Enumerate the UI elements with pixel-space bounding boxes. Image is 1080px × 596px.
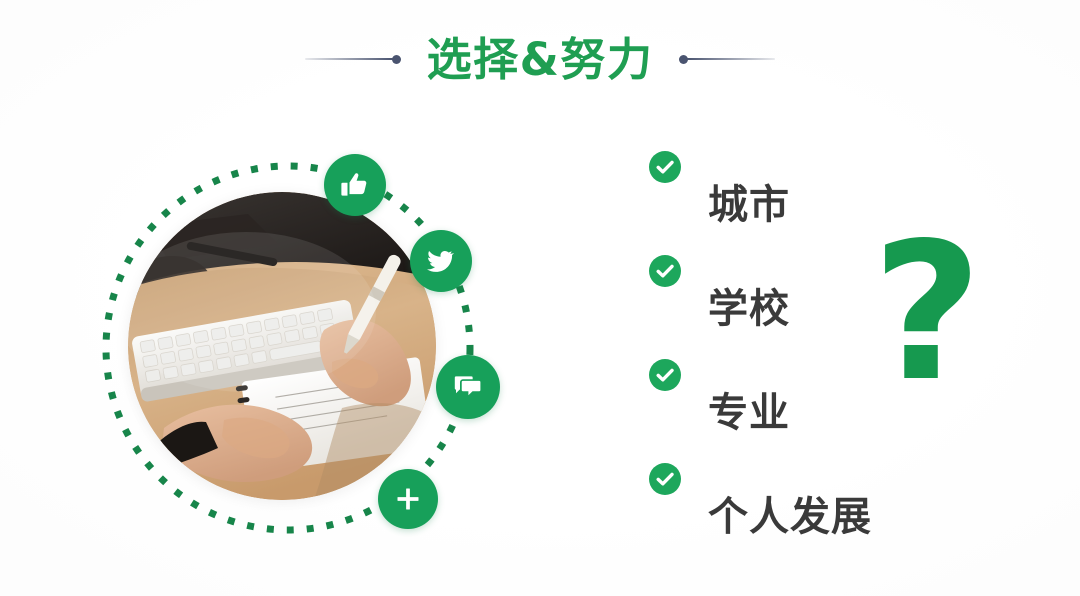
- list-item[interactable]: 个人发展: [648, 458, 948, 562]
- bird-icon: [425, 245, 457, 277]
- thumbs-up-badge[interactable]: [324, 154, 386, 216]
- chat-bubbles-icon: [452, 371, 484, 403]
- rule-bar-left: [305, 58, 393, 60]
- check-circle-icon: [648, 462, 682, 496]
- plus-badge[interactable]: [378, 469, 438, 529]
- rule-dot-right: [679, 55, 688, 64]
- photo-illustration: [128, 192, 436, 500]
- check-circle-icon: [648, 358, 682, 392]
- page-title: 选择&努力: [427, 37, 654, 82]
- list-item-label: 专业: [708, 393, 790, 433]
- check-circle-icon: [648, 150, 682, 184]
- decorative-line-right: [679, 53, 775, 65]
- list-item-label: 城市: [708, 185, 790, 225]
- list-item-label: 学校: [708, 289, 790, 329]
- thumbs-up-icon: [340, 170, 370, 200]
- rule-bar-right: [687, 58, 775, 60]
- plus-icon: [393, 484, 423, 514]
- photo-ring-graphic: [88, 148, 488, 548]
- chat-badge[interactable]: [436, 355, 500, 419]
- desk-writing-photo: [128, 192, 436, 500]
- slide-header: 选择&努力: [0, 28, 1080, 90]
- bird-badge[interactable]: [410, 230, 472, 292]
- question-mark-decor: ?: [872, 238, 976, 388]
- slide-canvas: 选择&努力: [0, 0, 1080, 596]
- list-item-label: 个人发展: [708, 497, 872, 537]
- decorative-line-left: [305, 53, 401, 65]
- rule-dot-left: [392, 55, 401, 64]
- check-circle-icon: [648, 254, 682, 288]
